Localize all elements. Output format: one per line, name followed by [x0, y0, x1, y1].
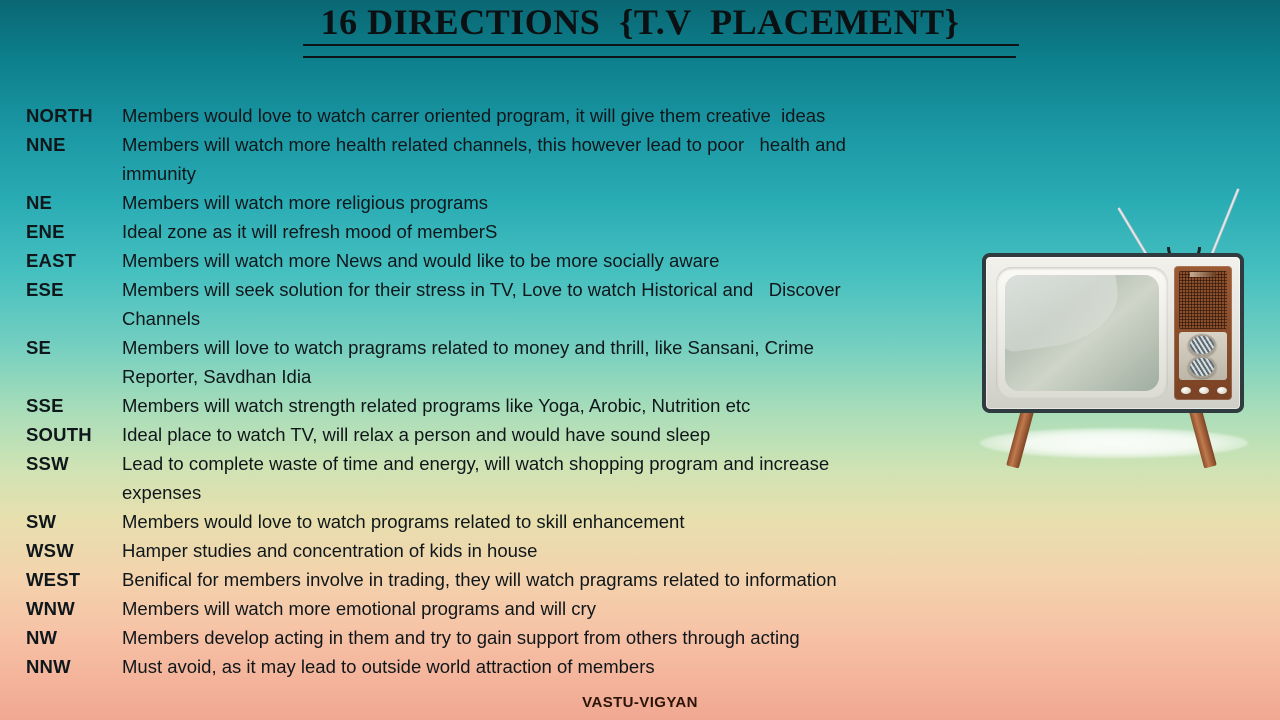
direction-row: WESTBenifical for members involve in tra…: [26, 565, 1006, 594]
direction-label: WSW: [26, 536, 122, 565]
direction-description-line: Members will watch more News and would l…: [122, 246, 1006, 275]
direction-description-line: Members will love to watch pragrams rela…: [122, 333, 1006, 362]
retro-tv-illustration: [960, 185, 1280, 475]
direction-description: Hamper studies and concentration of kids…: [122, 536, 1006, 565]
direction-label: WEST: [26, 565, 122, 594]
direction-label: NW: [26, 623, 122, 652]
direction-row: NNEMembers will watch more health relate…: [26, 130, 1006, 188]
direction-row: NNWMust avoid, as it may lead to outside…: [26, 652, 1006, 681]
direction-row: EASTMembers will watch more News and wou…: [26, 246, 1006, 275]
tv-control-panel: [1174, 266, 1232, 400]
footer-brand: VASTU-VIGYAN: [0, 694, 1280, 711]
direction-description: Members will seek solution for their str…: [122, 275, 1006, 333]
direction-row: SSWLead to complete waste of time and en…: [26, 449, 1006, 507]
direction-description-line: Benifical for members involve in trading…: [122, 565, 1006, 594]
tv-channel-dial: [1188, 334, 1216, 356]
direction-row: WNWMembers will watch more emotional pro…: [26, 594, 1006, 623]
direction-label: NE: [26, 188, 122, 217]
direction-row: NWMembers develop acting in them and try…: [26, 623, 1006, 652]
direction-description: Members will watch strength related prog…: [122, 391, 1006, 420]
direction-description: Members will watch more religious progra…: [122, 188, 1006, 217]
direction-row: SSEMembers will watch strength related p…: [26, 391, 1006, 420]
direction-description: Ideal zone as it will refresh mood of me…: [122, 217, 1006, 246]
direction-description-line: Members would love to watch carrer orien…: [122, 101, 1006, 130]
direction-description: Must avoid, as it may lead to outside wo…: [122, 652, 1006, 681]
direction-description: Ideal place to watch TV, will relax a pe…: [122, 420, 1006, 449]
title-underline-bottom: [303, 56, 1016, 58]
tv-screen: [1005, 275, 1159, 391]
tv-dial-plate: [1179, 332, 1227, 380]
direction-row: ENEIdeal zone as it will refresh mood of…: [26, 217, 1006, 246]
direction-label: EAST: [26, 246, 122, 275]
page-title: 16 DIRECTIONS {T.V PLACEMENT}: [0, 2, 1280, 42]
tv-button-1: [1180, 386, 1192, 395]
speaker-grille-icon: [1179, 271, 1227, 329]
direction-description: Members would love to watch programs rel…: [122, 507, 1006, 536]
direction-description-line: Hamper studies and concentration of kids…: [122, 536, 1006, 565]
direction-label: SSW: [26, 449, 122, 478]
direction-row: ESEMembers will seek solution for their …: [26, 275, 1006, 333]
direction-description-line: Members develop acting in them and try t…: [122, 623, 1006, 652]
tv-button-row: [1180, 384, 1228, 396]
direction-row: SEMembers will love to watch pragrams re…: [26, 333, 1006, 391]
direction-row: SOUTHIdeal place to watch TV, will relax…: [26, 420, 1006, 449]
direction-label: ESE: [26, 275, 122, 304]
direction-description: Members will watch more health related c…: [122, 130, 1006, 188]
direction-description-line: Members will watch strength related prog…: [122, 391, 1006, 420]
direction-description-line: Ideal place to watch TV, will relax a pe…: [122, 420, 1006, 449]
direction-label: NNE: [26, 130, 122, 159]
direction-label: NNW: [26, 652, 122, 681]
direction-description: Members would love to watch carrer orien…: [122, 101, 1006, 130]
tv-screen-bezel: [996, 267, 1168, 399]
direction-row: NORTHMembers would love to watch carrer …: [26, 101, 1006, 130]
tv-button-2: [1198, 386, 1210, 395]
direction-label: WNW: [26, 594, 122, 623]
direction-description-line: expenses: [122, 478, 1006, 507]
title-block: 16 DIRECTIONS {T.V PLACEMENT}: [0, 2, 1280, 42]
direction-row: SWMembers would love to watch programs r…: [26, 507, 1006, 536]
direction-label: SOUTH: [26, 420, 122, 449]
direction-description-line: Lead to complete waste of time and energ…: [122, 449, 1006, 478]
direction-label: SE: [26, 333, 122, 362]
direction-description-line: Must avoid, as it may lead to outside wo…: [122, 652, 1006, 681]
slide-canvas: 16 DIRECTIONS {T.V PLACEMENT} NORTHMembe…: [0, 0, 1280, 720]
direction-label: NORTH: [26, 101, 122, 130]
direction-label: SW: [26, 507, 122, 536]
direction-description: Members will watch more emotional progra…: [122, 594, 1006, 623]
tv-button-3: [1216, 386, 1228, 395]
direction-description-line: Members will watch more health related c…: [122, 130, 1006, 159]
direction-label: SSE: [26, 391, 122, 420]
direction-description: Benifical for members involve in trading…: [122, 565, 1006, 594]
tv-tuner-dial: [1188, 356, 1216, 378]
direction-description: Members will watch more News and would l…: [122, 246, 1006, 275]
direction-description-line: immunity: [122, 159, 1006, 188]
direction-description: Members will love to watch pragrams rela…: [122, 333, 1006, 391]
direction-row: NEMembers will watch more religious prog…: [26, 188, 1006, 217]
direction-description-line: Members would love to watch programs rel…: [122, 507, 1006, 536]
direction-list: NORTHMembers would love to watch carrer …: [26, 101, 1006, 681]
screen-glare: [1005, 275, 1124, 353]
direction-description-line: Reporter, Savdhan Idia: [122, 362, 1006, 391]
direction-label: ENE: [26, 217, 122, 246]
direction-row: WSWHamper studies and concentration of k…: [26, 536, 1006, 565]
direction-description: Lead to complete waste of time and energ…: [122, 449, 1006, 507]
direction-description-line: Channels: [122, 304, 1006, 333]
direction-description-line: Ideal zone as it will refresh mood of me…: [122, 217, 1006, 246]
direction-description-line: Members will seek solution for their str…: [122, 275, 1006, 304]
title-underline-top: [303, 44, 1019, 46]
direction-description-line: Members will watch more emotional progra…: [122, 594, 1006, 623]
direction-description: Members develop acting in them and try t…: [122, 623, 1006, 652]
tv-body: [982, 253, 1244, 413]
direction-description-line: Members will watch more religious progra…: [122, 188, 1006, 217]
tv-brand-strip: [1190, 272, 1216, 277]
